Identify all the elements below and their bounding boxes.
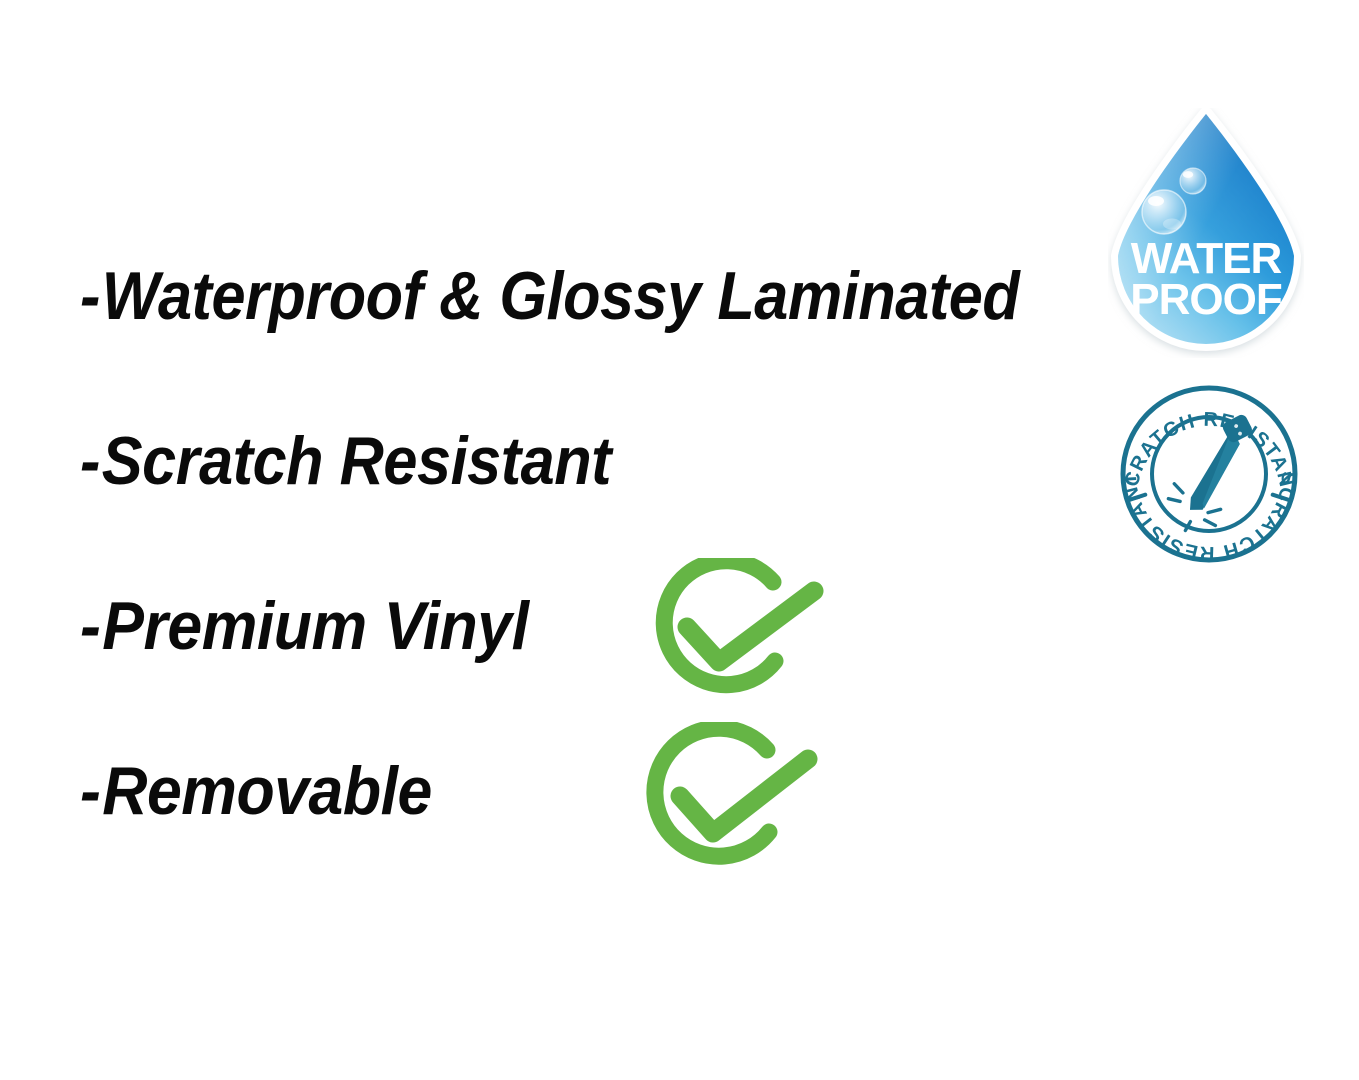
scratch-resistant-badge: SCRATCH RESISTANT SCRATCH RESISTANT: [1116, 382, 1302, 566]
feature-item-premium-vinyl: -Premium Vinyl: [80, 592, 529, 660]
bubble-icon-large: [1142, 190, 1186, 234]
feature-label: Scratch Resistant: [102, 427, 611, 495]
bubble-icon-small: [1180, 168, 1206, 194]
feature-bullet-dash: -: [80, 757, 100, 825]
feature-label: Waterproof & Glossy Laminated: [102, 262, 1020, 330]
feature-bullet-dash: -: [80, 262, 100, 330]
feature-label: Premium Vinyl: [102, 592, 528, 660]
feature-bullet-dash: -: [80, 592, 100, 660]
feature-item-removable: -Removable: [80, 757, 432, 825]
feature-label: Removable: [102, 757, 432, 825]
feature-graphic-canvas: -Waterproof & Glossy Laminated -Scratch …: [0, 0, 1359, 1080]
waterproof-line2: PROOF: [1130, 275, 1282, 324]
feature-list: -Waterproof & Glossy Laminated -Scratch …: [0, 0, 1100, 1080]
check-circle-icon: [644, 558, 826, 708]
check-mark: [687, 591, 814, 662]
waterproof-drop-badge: WATER PROOF: [1108, 108, 1304, 358]
check-mark: [680, 759, 808, 833]
feature-item-waterproof-glossy-laminated: -Waterproof & Glossy Laminated: [80, 262, 1019, 330]
feature-item-scratch-resistant: -Scratch Resistant: [80, 427, 611, 495]
feature-bullet-dash: -: [80, 427, 100, 495]
check-circle-icon: [636, 722, 818, 880]
